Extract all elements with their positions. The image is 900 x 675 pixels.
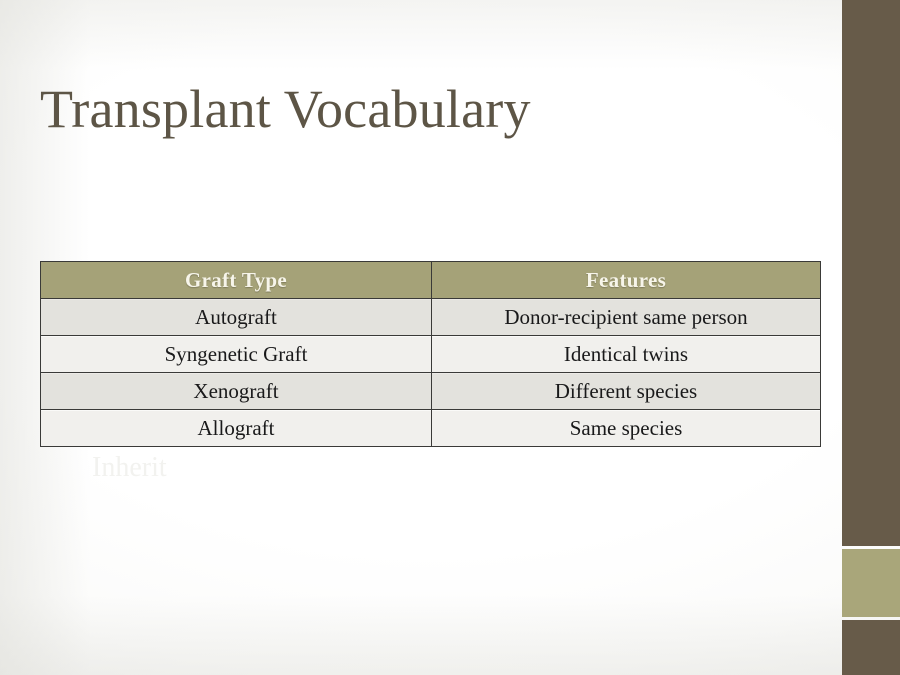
cell-graft-type: Syngenetic Graft [41, 336, 432, 373]
slide-title: Transplant Vocabulary [40, 80, 531, 138]
vocabulary-table: Graft Type Features Autograft Donor-reci… [40, 261, 821, 447]
ghost-artifact-text-secondary: Inherit [92, 452, 167, 484]
sidebar-band-bottom [842, 620, 900, 675]
cell-features: Donor-recipient same person [432, 299, 821, 336]
table-row: Autograft Donor-recipient same person [41, 299, 821, 336]
table-header-row: Graft Type Features [41, 262, 821, 299]
cell-features: Identical twins [432, 336, 821, 373]
cell-graft-type: Xenograft [41, 373, 432, 410]
table-row: Syngenetic Graft Identical twins [41, 336, 821, 373]
table-row: Xenograft Different species [41, 373, 821, 410]
decorative-sidebar [842, 0, 900, 675]
cell-graft-type: Autograft [41, 299, 432, 336]
cell-features: Different species [432, 373, 821, 410]
sidebar-band-accent [842, 549, 900, 617]
column-header-features: Features [432, 262, 821, 299]
table-body: Autograft Donor-recipient same person Sy… [41, 299, 821, 447]
cell-graft-type: Allograft [41, 410, 432, 447]
table-header: Graft Type Features [41, 262, 821, 299]
presentation-slide: • Inherited Inherit Transplant Vocabular… [0, 0, 900, 675]
sidebar-band-top [842, 0, 900, 546]
vocabulary-table-container: Graft Type Features Autograft Donor-reci… [40, 261, 820, 447]
column-header-graft-type: Graft Type [41, 262, 432, 299]
table-row: Allograft Same species [41, 410, 821, 447]
cell-features: Same species [432, 410, 821, 447]
